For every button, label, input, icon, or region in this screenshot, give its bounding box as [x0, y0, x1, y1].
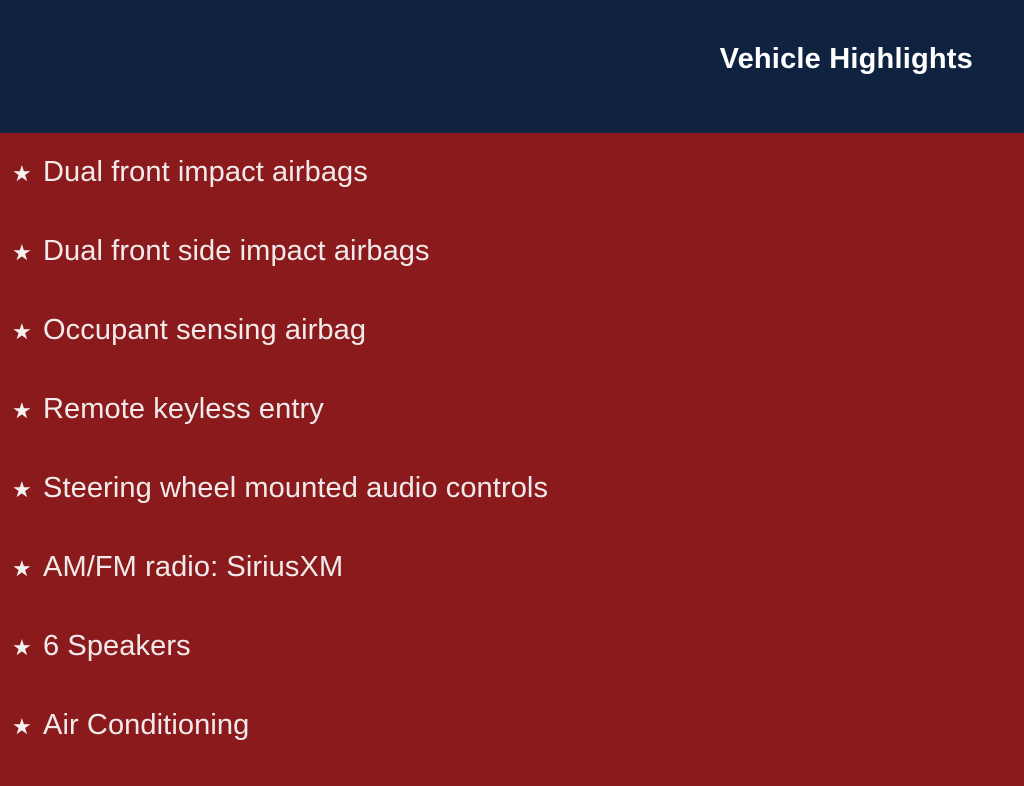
list-item: ★ Dual front side impact airbags	[0, 233, 1024, 312]
star-bullet-icon: ★	[12, 392, 43, 429]
list-item: ★ Air Conditioning	[0, 707, 1024, 786]
star-bullet-icon: ★	[12, 234, 43, 271]
list-item-label: 6 Speakers	[43, 628, 191, 665]
star-bullet-icon: ★	[12, 313, 43, 350]
vehicle-highlights-list: ★ Dual front impact airbags ★ Dual front…	[0, 154, 1024, 786]
star-bullet-icon: ★	[12, 629, 43, 666]
list-item: ★ AM/FM radio: SiriusXM	[0, 549, 1024, 628]
star-bullet-icon: ★	[12, 708, 43, 745]
star-bullet-icon: ★	[12, 471, 43, 508]
page-title: Vehicle Highlights	[720, 44, 973, 76]
slide-header: Vehicle Highlights	[0, 0, 1024, 133]
list-item-label: Occupant sensing airbag	[43, 312, 366, 349]
list-item-label: Steering wheel mounted audio controls	[43, 470, 548, 507]
list-item-label: Remote keyless entry	[43, 391, 324, 428]
slide-body: ★ Dual front impact airbags ★ Dual front…	[0, 133, 1024, 786]
list-item-label: Dual front impact airbags	[43, 154, 368, 191]
list-item: ★ Occupant sensing airbag	[0, 312, 1024, 391]
list-item-label: Air Conditioning	[43, 707, 249, 744]
star-bullet-icon: ★	[12, 550, 43, 587]
list-item-label: Dual front side impact airbags	[43, 233, 430, 270]
vehicle-highlights-slide: Vehicle Highlights ★ Dual front impact a…	[0, 0, 1024, 768]
list-item: ★ Steering wheel mounted audio controls	[0, 470, 1024, 549]
list-item: ★ Remote keyless entry	[0, 391, 1024, 470]
star-bullet-icon: ★	[12, 155, 43, 192]
list-item: ★ Dual front impact airbags	[0, 154, 1024, 233]
list-item-label: AM/FM radio: SiriusXM	[43, 549, 343, 586]
list-item: ★ 6 Speakers	[0, 628, 1024, 707]
